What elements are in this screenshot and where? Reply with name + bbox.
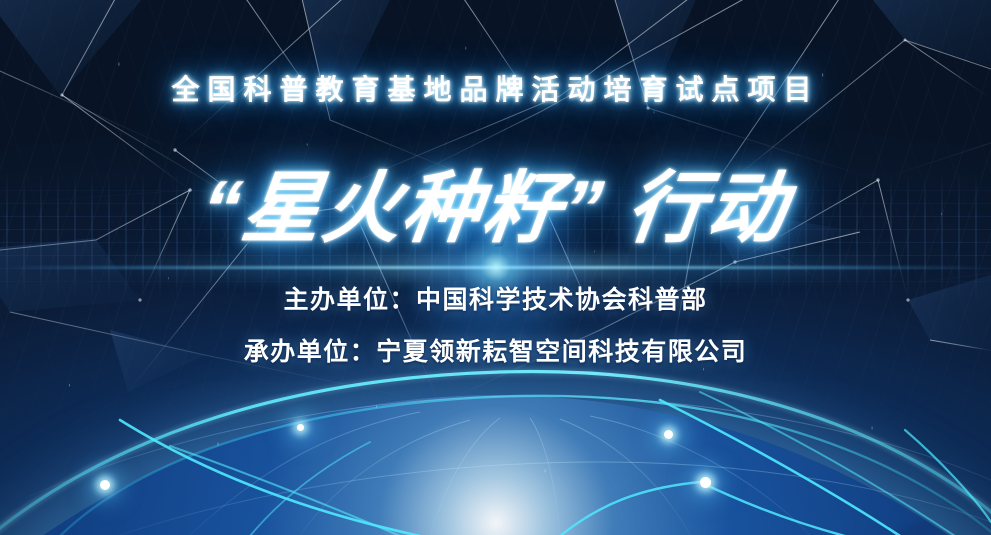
poster-content: 全国科普教育基地品牌活动培育试点项目 “星火种籽” 行动 主办单位：中国科学技术… [0,0,991,535]
poster-banner: 全国科普教育基地品牌活动培育试点项目 “星火种籽” 行动 主办单位：中国科学技术… [0,0,991,535]
program-subtitle: 全国科普教育基地品牌活动培育试点项目 [0,68,991,108]
page-title: “星火种籽” 行动 [0,146,991,258]
organizer-organization-line: 承办单位：宁夏领新耘智空间科技有限公司 [0,332,991,368]
host-organization-line: 主办单位：中国科学技术协会科普部 [0,280,991,316]
